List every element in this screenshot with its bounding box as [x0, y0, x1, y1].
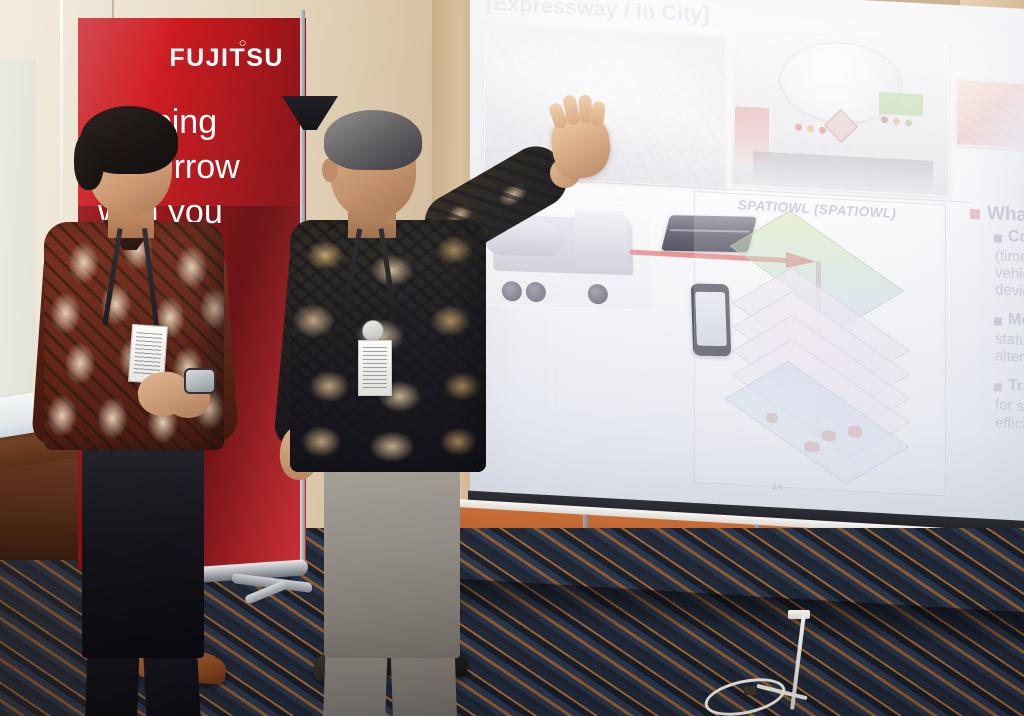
- presenter-right-trousers: [324, 448, 460, 658]
- presenter-left: [30, 110, 250, 716]
- presenter-right: [282, 96, 612, 716]
- presenter-left-hair-side: [74, 132, 104, 190]
- cable-clip: [788, 610, 810, 619]
- cable-plug: [744, 686, 756, 695]
- fujitsu-logo-mark: ○: [239, 35, 248, 50]
- presenter-right-id-badge: [358, 340, 392, 396]
- presenter-left-trousers: [82, 428, 204, 658]
- fujitsu-logo: ○ FUJITSU: [169, 44, 284, 73]
- fujitsu-logo-text: FUJITSU: [169, 44, 284, 72]
- badge-reel-icon: [362, 320, 384, 342]
- badge-text-lines: [133, 332, 162, 378]
- badge-text-lines: [363, 347, 387, 390]
- finger: [590, 101, 605, 126]
- presenter-right-hair: [324, 110, 422, 170]
- presentation-photo-scene: [Expressway / in City]: [0, 0, 1024, 716]
- wristwatch-icon: [184, 368, 216, 394]
